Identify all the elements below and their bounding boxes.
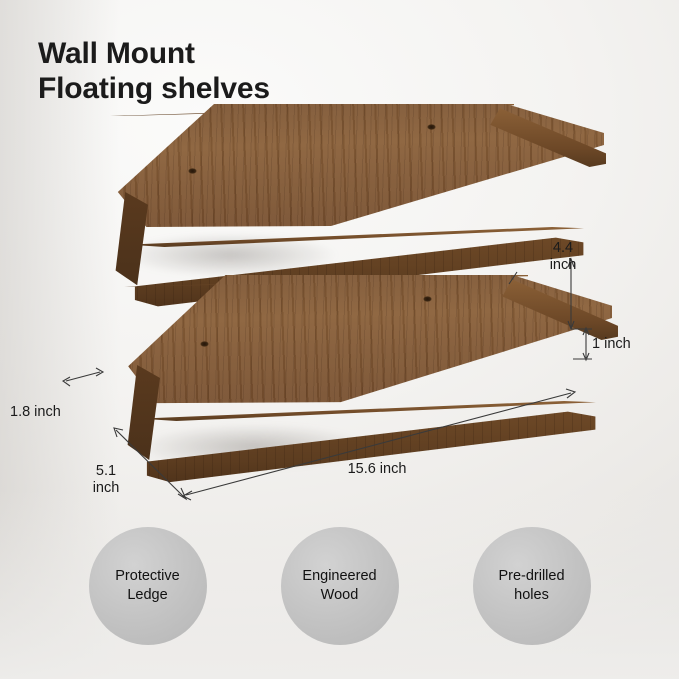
dimension-label-depth-top: 4.4 inch bbox=[533, 240, 593, 273]
shelf-lower-screw-hole-right bbox=[423, 296, 432, 302]
shelf-upper-screw-hole-right bbox=[427, 124, 436, 130]
badge-engineered-wood: Engineered Wood bbox=[281, 527, 399, 645]
dimension-label-depth-front: 5.1 inch bbox=[72, 463, 140, 496]
badge-engineered-wood-label: Engineered Wood bbox=[302, 567, 376, 605]
dimension-label-thickness: 1.8 inch bbox=[10, 404, 88, 421]
feature-badges: Protective Ledge Engineered Wood Pre-dri… bbox=[0, 527, 679, 645]
dimension-label-ledge-height: 1 inch bbox=[592, 336, 654, 353]
shelf-upper-screw-hole-left bbox=[188, 168, 197, 174]
badge-pre-drilled-holes: Pre-drilled holes bbox=[473, 527, 591, 645]
badge-pre-drilled-holes-label: Pre-drilled holes bbox=[498, 567, 564, 605]
dimension-label-length: 15.6 inch bbox=[322, 461, 432, 478]
product-image: Wall Mount Floating shelves bbox=[0, 0, 679, 679]
shelf-lower bbox=[100, 265, 620, 485]
badge-protective-ledge: Protective Ledge bbox=[89, 527, 207, 645]
badge-protective-ledge-label: Protective Ledge bbox=[115, 567, 179, 605]
shelf-lower-screw-hole-left bbox=[200, 341, 209, 347]
